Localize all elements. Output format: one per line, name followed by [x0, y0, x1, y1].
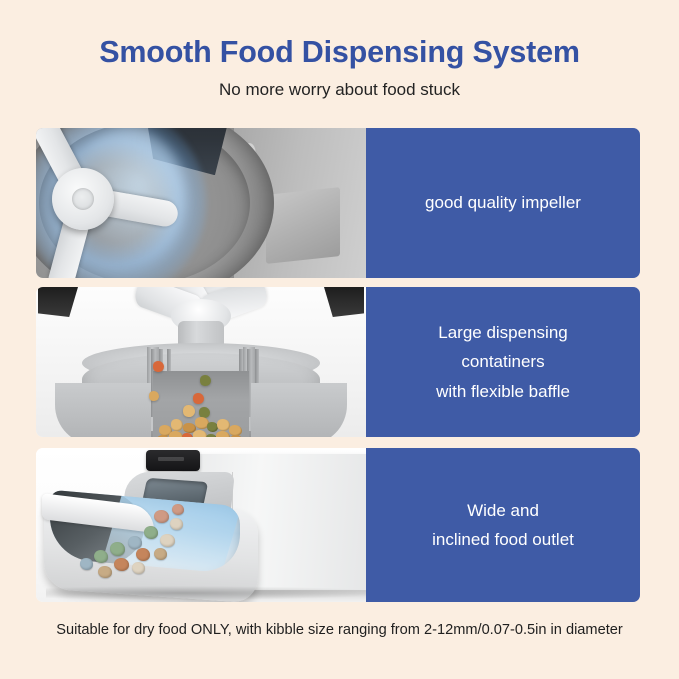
kibble	[98, 566, 112, 578]
caption-line: good quality impeller	[425, 188, 581, 217]
kibble	[154, 510, 169, 523]
kibble	[169, 431, 183, 437]
dispensing-container-render	[36, 287, 366, 437]
feature-row: Wide and inclined food outlet	[36, 448, 640, 602]
kibble	[193, 430, 207, 437]
kibble	[160, 534, 175, 547]
kibble	[136, 548, 150, 561]
falling-kibble	[200, 375, 211, 386]
drop-shadow	[46, 586, 366, 600]
feature-caption: Large dispensing contatiners with flexib…	[366, 287, 640, 437]
impeller-hub	[52, 168, 114, 230]
page-title: Smooth Food Dispensing System	[0, 36, 679, 70]
display-panel	[146, 450, 200, 471]
caption-line: inclined food outlet	[432, 525, 574, 554]
header: Smooth Food Dispensing System No more wo…	[0, 0, 679, 99]
kibble-pile	[155, 397, 247, 437]
impeller-photo	[36, 128, 366, 278]
kibble	[182, 433, 193, 437]
feature-row: Large dispensing contatiners with flexib…	[36, 287, 640, 437]
caption-line: with flexible baffle	[436, 377, 570, 406]
chamber-front-right	[251, 383, 347, 437]
kibble	[170, 518, 183, 530]
hopper-bowl	[36, 128, 274, 278]
kibble	[144, 526, 158, 539]
product-infographic: Smooth Food Dispensing System No more wo…	[0, 0, 679, 679]
kibble	[110, 542, 125, 556]
feature-caption: Wide and inclined food outlet	[366, 448, 640, 602]
kibble	[114, 558, 129, 571]
chamber-front-left	[55, 383, 151, 437]
kibble	[128, 536, 142, 549]
kibble	[154, 548, 167, 560]
page-subtitle: No more worry about food stuck	[0, 81, 679, 100]
falling-kibble	[153, 361, 164, 372]
kibble	[171, 419, 183, 431]
caption-line: Wide and	[467, 496, 539, 525]
kibble	[230, 435, 243, 437]
feature-row: good quality impeller	[36, 128, 640, 278]
caption-line: Large dispensing	[438, 318, 567, 347]
food-outlet-photo	[36, 448, 366, 602]
feature-caption: good quality impeller	[366, 128, 640, 278]
feature-list: good quality impeller	[36, 128, 640, 602]
kibble	[80, 558, 93, 570]
kibble	[132, 562, 145, 574]
kibble	[94, 550, 108, 563]
kibble	[216, 431, 230, 437]
footer-note: Suitable for dry food ONLY, with kibble …	[0, 622, 679, 640]
caption-line: contatiners	[461, 347, 544, 376]
kibble	[172, 504, 184, 515]
